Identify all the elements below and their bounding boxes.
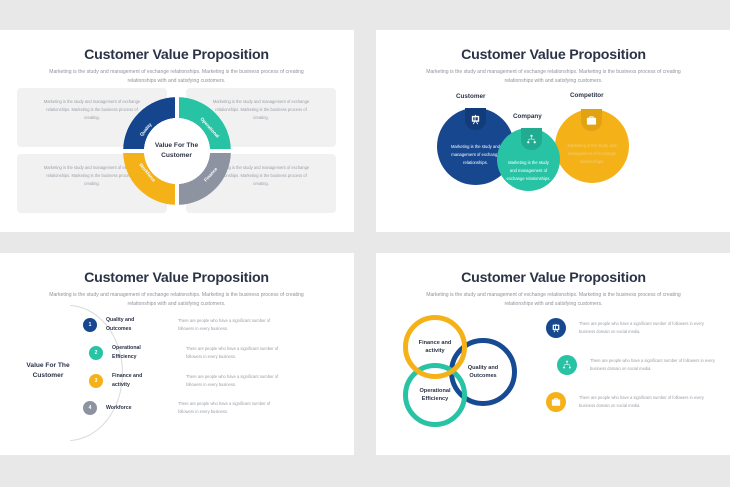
- bullet-item[interactable]: There are people who have a significant …: [557, 355, 718, 375]
- ring-finance[interactable]: Finance and activity: [403, 315, 467, 379]
- list-item-desc: There are people who have a significant …: [186, 345, 282, 361]
- briefcase-icon: [546, 392, 566, 412]
- presentation-board-icon: [465, 108, 486, 130]
- org-chart-icon: [557, 355, 577, 375]
- venn-diagram: Customer Company Competitor Marketing is…: [376, 30, 730, 232]
- slide-rings[interactable]: Customer Value Proposition Marketing is …: [376, 253, 730, 455]
- list-center-label: Value For The Customer: [17, 361, 79, 381]
- list-number-badge: 3: [89, 374, 103, 388]
- list-item-title: Finance and activity: [112, 372, 160, 389]
- org-chart-icon: [521, 128, 542, 150]
- venn-heading-customer: Customer: [456, 93, 485, 100]
- quadrant-grid: Marketing is the study and management of…: [17, 88, 336, 213]
- list-item-title: Quality and Outcomes: [106, 316, 154, 333]
- list-item-title: Operational Efficiency: [112, 344, 160, 361]
- page-title: Customer Value Proposition: [0, 270, 354, 286]
- bullet-desc: There are people who have a significant …: [579, 394, 707, 410]
- venn-heading-competitor: Competitor: [570, 92, 604, 99]
- list-number-badge: 4: [83, 401, 97, 415]
- list-item[interactable]: 1 Quality and Outcomes There are people …: [83, 316, 274, 333]
- donut-center-label: Value For The Customer: [144, 118, 210, 184]
- ring-label: Quality and Outcomes: [462, 364, 504, 381]
- bullet-item[interactable]: There are people who have a significant …: [546, 318, 707, 338]
- list-number-badge: 1: [83, 318, 97, 332]
- slide-numbered-list[interactable]: Customer Value Proposition Marketing is …: [0, 253, 354, 455]
- venn-text: Marketing is the study and management of…: [505, 159, 552, 184]
- ring-label: Operational Efficiency: [416, 387, 455, 404]
- list-item-desc: There are people who have a significant …: [186, 373, 282, 389]
- venn-text: Marketing is the study and management of…: [447, 143, 504, 168]
- list-item[interactable]: 2 Operational Efficiency There are peopl…: [89, 344, 282, 361]
- bullet-item[interactable]: There are people who have a significant …: [546, 392, 707, 412]
- slide-donut[interactable]: Customer Value Proposition Marketing is …: [0, 30, 354, 232]
- venn-text: Marketing is the study and management of…: [565, 142, 620, 167]
- list-number-badge: 2: [89, 346, 103, 360]
- venn-heading-company: Company: [513, 113, 542, 120]
- page-title: Customer Value Proposition: [376, 270, 730, 286]
- presentation-board-icon: [546, 318, 566, 338]
- page-subtitle: Marketing is the study and management of…: [416, 291, 691, 310]
- briefcase-icon: [581, 109, 602, 131]
- list-item-desc: There are people who have a significant …: [178, 317, 274, 333]
- list-item-title: Workforce: [106, 404, 154, 413]
- list-item[interactable]: 4 Workforce There are people who have a …: [83, 400, 274, 416]
- list-item-desc: There are people who have a significant …: [178, 400, 274, 416]
- slide-deck: Customer Value Proposition Marketing is …: [0, 0, 730, 487]
- page-title: Customer Value Proposition: [0, 47, 354, 63]
- bullet-desc: There are people who have a significant …: [579, 320, 707, 336]
- bullet-desc: There are people who have a significant …: [590, 357, 718, 373]
- page-subtitle: Marketing is the study and management of…: [39, 68, 314, 87]
- list-item[interactable]: 3 Finance and activity There are people …: [89, 372, 282, 389]
- slide-venn[interactable]: Customer Value Proposition Marketing is …: [376, 30, 730, 232]
- ring-label: Finance and activity: [416, 339, 455, 356]
- donut-chart[interactable]: Quality Operational Finance Workforce Va…: [123, 97, 231, 205]
